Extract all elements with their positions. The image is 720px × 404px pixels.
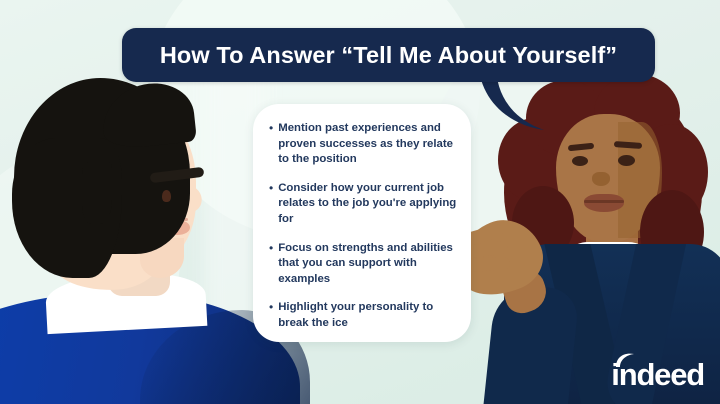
man-illustration [0, 78, 280, 404]
man-eye [162, 190, 171, 202]
title-speech-bubble: How To Answer “Tell Me About Yourself” [122, 28, 655, 82]
indeed-logo: indeed [611, 359, 704, 390]
list-item: • Mention past experiences and proven su… [269, 121, 459, 168]
bullet-icon: • [269, 181, 273, 228]
indeed-swoosh-icon [615, 352, 637, 368]
illustration-canvas: How To Answer “Tell Me About Yourself” •… [0, 0, 720, 404]
list-item-text: Focus on strengths and abilities that yo… [278, 241, 459, 288]
woman-lips [584, 194, 624, 212]
list-item: • Consider how your current job relates … [269, 181, 459, 228]
tips-list: • Mention past experiences and proven su… [269, 121, 459, 332]
bullet-icon: • [269, 121, 273, 168]
woman-eye-left [572, 156, 588, 166]
bullet-icon: • [269, 300, 273, 331]
man-sideburn [82, 162, 112, 224]
list-item-text: Consider how your current job relates to… [278, 181, 459, 228]
page-title: How To Answer “Tell Me About Yourself” [160, 42, 617, 69]
list-item-text: Highlight your personality to break the … [278, 300, 459, 331]
woman-mouth-line [584, 200, 624, 203]
woman-nose [592, 172, 610, 186]
tips-card: • Mention past experiences and proven su… [253, 104, 471, 342]
list-item: • Focus on strengths and abilities that … [269, 241, 459, 288]
list-item-text: Mention past experiences and proven succ… [278, 121, 459, 168]
bullet-icon: • [269, 241, 273, 288]
list-item: • Highlight your personality to break th… [269, 300, 459, 331]
woman-eye-right [618, 155, 635, 166]
